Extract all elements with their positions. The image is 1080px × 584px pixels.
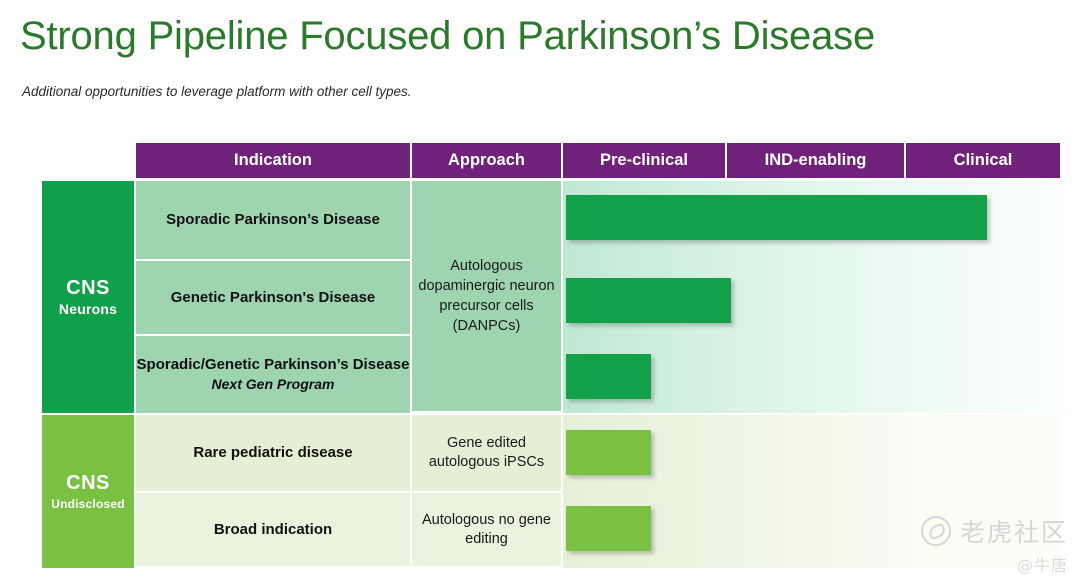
group-name: CNS — [66, 276, 110, 300]
group-label-cns-neurons: CNS Neurons — [42, 181, 134, 413]
column-header-pre-clinical: Pre-clinical — [563, 143, 727, 178]
cell-approach: Gene edited autologous iPSCs — [412, 415, 563, 493]
progress-bar-sporadic-parkinsons — [566, 195, 987, 240]
table-header-row: Indication Approach Pre-clinical IND-ena… — [136, 143, 1060, 178]
cell-indication: Broad indication — [136, 493, 412, 568]
column-header-indication: Indication — [136, 143, 412, 178]
group-subname: Neurons — [59, 300, 117, 318]
pipeline-table: Indication Approach Pre-clinical IND-ena… — [42, 143, 1060, 568]
group-name: CNS — [66, 471, 110, 495]
progress-bar-broad-indication — [566, 506, 651, 551]
progress-bar-rare-pediatric-disease — [566, 430, 651, 475]
cell-indication: Sporadic Parkinson’s Disease — [136, 181, 412, 261]
cell-indication: Genetic Parkinson's Disease — [136, 261, 412, 336]
progress-bar-genetic-parkinsons — [566, 278, 731, 323]
column-header-clinical: Clinical — [906, 143, 1060, 178]
column-header-ind-enabling: IND-enabling — [727, 143, 906, 178]
column-header-approach: Approach — [412, 143, 563, 178]
page-title: Strong Pipeline Focused on Parkinson’s D… — [20, 12, 875, 60]
cell-indication-text: Sporadic/Genetic Parkinson’s Disease — [137, 355, 410, 375]
cell-indication: Sporadic/Genetic Parkinson’s Disease Nex… — [136, 336, 412, 415]
page-subtitle: Additional opportunities to leverage pla… — [22, 84, 411, 99]
cell-approach-merged: Autologous dopaminergic neuron precursor… — [412, 181, 563, 413]
cell-indication: Rare pediatric disease — [136, 415, 412, 493]
cell-indication-subtext: Next Gen Program — [212, 375, 335, 394]
group-subname: Undisclosed — [51, 495, 125, 513]
progress-bar-sporadic-genetic-next-gen — [566, 354, 651, 399]
cell-approach: Autologous no gene editing — [412, 493, 563, 568]
table-body: Sporadic Parkinson’s Disease Genetic Par… — [136, 181, 1060, 568]
group-label-cns-undisclosed: CNS Undisclosed — [42, 415, 134, 568]
